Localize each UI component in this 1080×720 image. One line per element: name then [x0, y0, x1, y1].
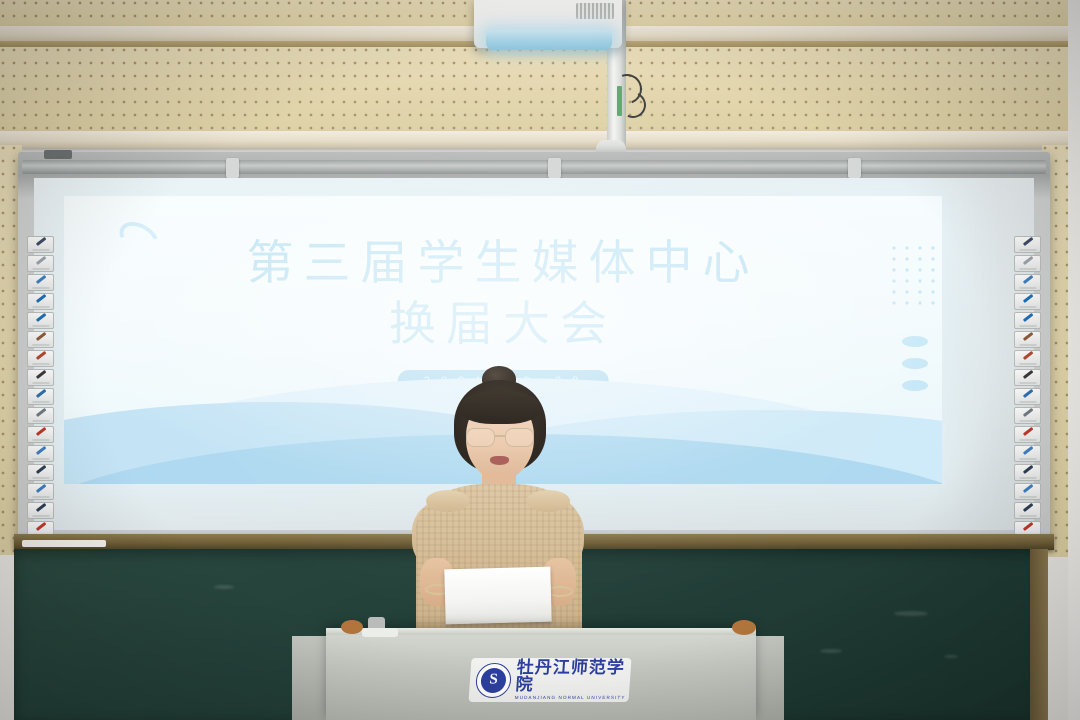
text-icon[interactable]: [1014, 483, 1041, 500]
podium-object-right[interactable]: [732, 620, 756, 635]
student-speaker: [398, 372, 598, 652]
whiteboard-toolbar-right[interactable]: [1014, 236, 1041, 578]
classroom-scene: 第三届学生媒体中心 换届大会 2 0 2 1 . 0 9 . 2 8: [0, 0, 1080, 720]
pointer-icon[interactable]: [1014, 312, 1041, 329]
text-icon[interactable]: [27, 483, 54, 500]
rail-clip: [848, 158, 861, 178]
screen-icon[interactable]: [27, 236, 54, 253]
speech-script-paper: [444, 567, 551, 625]
marker-icon[interactable]: [27, 369, 54, 386]
cursor-icon[interactable]: [1014, 293, 1041, 310]
whiteboard-brand-badge: [44, 150, 72, 159]
projector-lens: [486, 30, 612, 50]
projector-vent-icon: [576, 3, 614, 19]
grid-icon[interactable]: [27, 502, 54, 519]
hair-fringe: [460, 390, 540, 424]
chalkboard-edge-right: [1030, 549, 1048, 720]
eraser-icon[interactable]: [27, 426, 54, 443]
shape-icon[interactable]: [1014, 445, 1041, 462]
podium-object-left[interactable]: [341, 620, 363, 634]
brush-icon[interactable]: [27, 388, 54, 405]
eraser-icon[interactable]: [1014, 426, 1041, 443]
eyeglasses-icon: [466, 428, 534, 445]
university-logo-decal: 牡丹江师范学院 MUDANJIANG NORMAL UNIVERSITY: [468, 658, 631, 702]
pencil-icon[interactable]: [1014, 350, 1041, 367]
shoulder-ruffle-left: [426, 490, 470, 512]
select-icon[interactable]: [27, 274, 54, 291]
wall-trim-lower: [0, 131, 1080, 148]
grid-icon[interactable]: [1014, 502, 1041, 519]
whiteboard-toolbar-left[interactable]: [27, 236, 54, 578]
marker-icon[interactable]: [1014, 369, 1041, 386]
shape-icon[interactable]: [27, 445, 54, 462]
university-seal-icon: [475, 663, 512, 698]
slide-title: 第三届学生媒体中心 换届大会: [64, 234, 942, 356]
pen-icon[interactable]: [27, 331, 54, 348]
highlighter-icon[interactable]: [27, 407, 54, 424]
oval-decoration-icon: [902, 380, 928, 391]
podium-object-paper[interactable]: [362, 628, 398, 637]
cursor-icon[interactable]: [27, 293, 54, 310]
monitor-icon[interactable]: [1014, 464, 1041, 481]
chalk-stick[interactable]: [22, 540, 106, 547]
shoulder-ruffle-right: [526, 490, 570, 512]
monitor-icon[interactable]: [27, 464, 54, 481]
whiteboard-rail: [22, 160, 1046, 174]
wall-right-edge: [1068, 0, 1080, 720]
university-name-cn: 牡丹江师范学院: [515, 659, 631, 693]
rail-clip: [226, 158, 239, 178]
highlighter-icon[interactable]: [1014, 407, 1041, 424]
pencil-icon[interactable]: [27, 350, 54, 367]
university-name-en: MUDANJIANG NORMAL UNIVERSITY: [515, 696, 629, 701]
rail-clip: [548, 158, 561, 178]
select-icon[interactable]: [1014, 274, 1041, 291]
page-icon[interactable]: [27, 255, 54, 272]
pen-icon[interactable]: [1014, 331, 1041, 348]
wall-panel-main: [0, 47, 1080, 139]
mouth: [490, 456, 509, 465]
pointer-icon[interactable]: [27, 312, 54, 329]
brush-icon[interactable]: [1014, 388, 1041, 405]
page-icon[interactable]: [1014, 255, 1041, 272]
oval-decoration-icon: [902, 358, 928, 369]
screen-icon[interactable]: [1014, 236, 1041, 253]
